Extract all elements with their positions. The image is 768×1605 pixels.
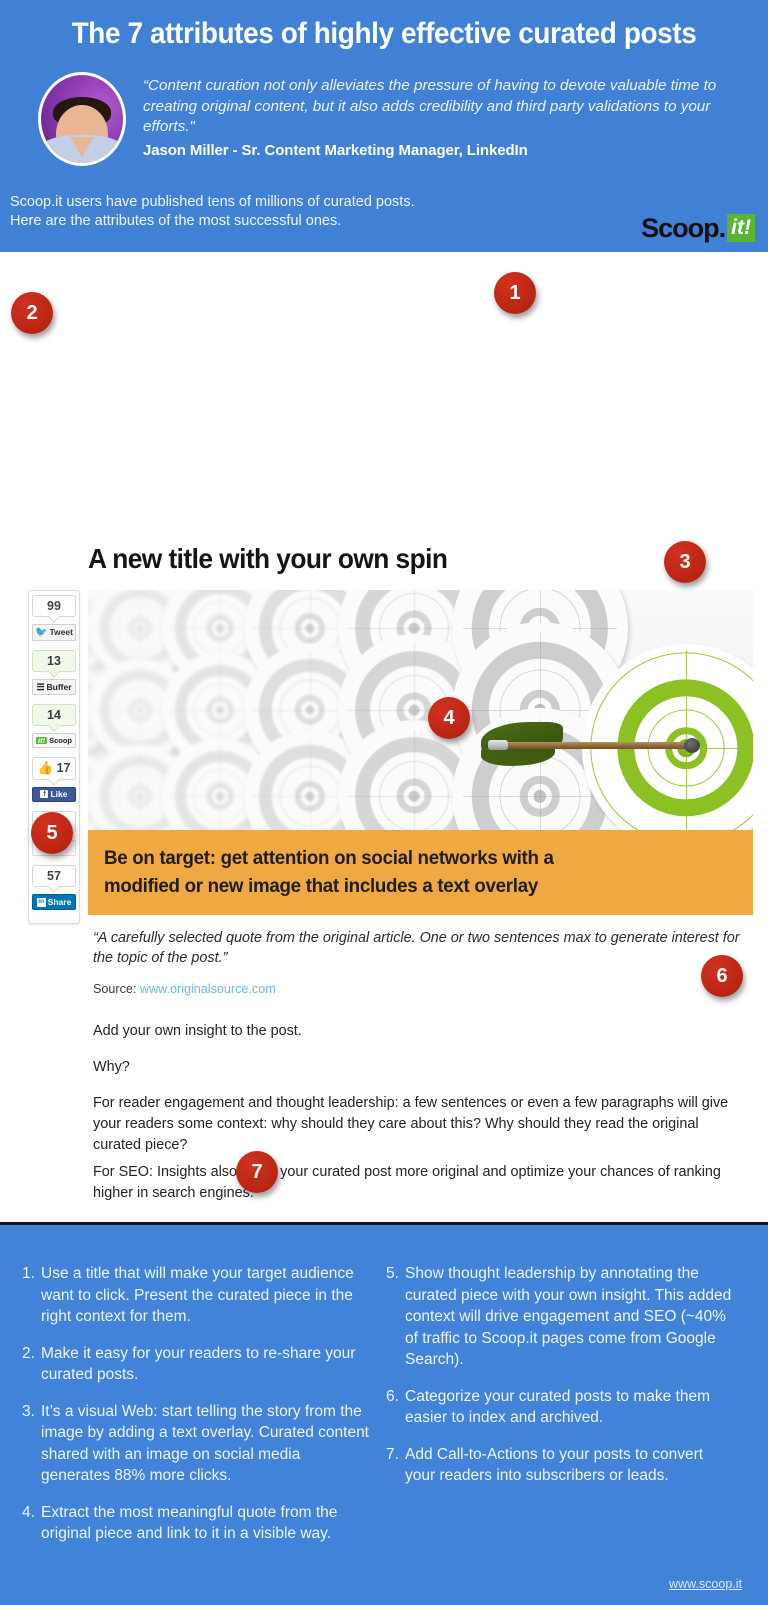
callout-badge-3: 3 bbox=[664, 541, 706, 583]
footer-tips-column-left: 1.Use a title that will make your target… bbox=[22, 1263, 370, 1605]
footer-tip-number: 6. bbox=[386, 1386, 405, 1429]
footer-tip-number: 5. bbox=[386, 1263, 405, 1371]
footer-site-link[interactable]: www.scoop.it bbox=[669, 1577, 742, 1591]
paragraph-engagement: For reader engagement and thought leader… bbox=[93, 1093, 741, 1156]
source-line: Source: www.originalsource.com bbox=[93, 982, 741, 996]
share-button-scoopit[interactable]: it!Scoop bbox=[32, 733, 76, 748]
linkedin-icon: in bbox=[37, 898, 46, 907]
header-quote-author: Jason Miller - Sr. Content Marketing Man… bbox=[143, 142, 743, 159]
share-count-twitter: 99 bbox=[32, 595, 76, 617]
share-count-facebook: 👍 17 bbox=[32, 757, 76, 780]
source-link[interactable]: www.originalsource.com bbox=[140, 982, 276, 996]
share-count-buffer: 13 bbox=[32, 650, 76, 672]
footer-tip-text: Make it easy for your readers to re-shar… bbox=[41, 1343, 370, 1386]
arrow-tip-icon bbox=[684, 738, 700, 753]
footer-tip-text: Show thought leadership by annotating th… bbox=[405, 1263, 734, 1371]
header-quote: “Content curation not only alleviates th… bbox=[143, 76, 743, 138]
footer-tip-text: Use a title that will make your target a… bbox=[41, 1263, 370, 1328]
callout-badge-2: 2 bbox=[11, 292, 53, 334]
social-share-rail[interactable]: 99🐦Tweet13☰Buffer14it!Scoop👍 17fLike23g+… bbox=[28, 590, 80, 924]
footer-tip-item: 6.Categorize your curated posts to make … bbox=[386, 1386, 734, 1429]
footer-tip-number: 4. bbox=[22, 1502, 41, 1545]
share-count-scoopit: 14 bbox=[32, 704, 76, 726]
footer-tip-item: 3.It’s a visual Web: start telling the s… bbox=[22, 1401, 370, 1487]
footer-tip-text: Extract the most meaningful quote from t… bbox=[41, 1502, 370, 1545]
footer-tip-number: 7. bbox=[386, 1444, 405, 1487]
arrow-nock-icon bbox=[488, 740, 508, 750]
header-subtitle: Scoop.it users have published tens of mi… bbox=[10, 193, 415, 231]
share-button-twitter[interactable]: 🐦Tweet bbox=[32, 624, 76, 641]
caption-line-1: Be on target: get attention on social ne… bbox=[104, 844, 712, 872]
share-count-linkedin: 57 bbox=[32, 865, 76, 887]
share-button-linkedin[interactable]: inShare bbox=[32, 894, 76, 910]
arrow-shaft-icon bbox=[500, 742, 692, 749]
twitter-icon: 🐦 bbox=[35, 628, 47, 638]
header-subtitle-line2: Here are the attributes of the most succ… bbox=[10, 212, 415, 231]
source-label: Source: bbox=[93, 982, 136, 996]
scoopit-icon: it! bbox=[36, 737, 47, 745]
share-button-label: Share bbox=[48, 898, 72, 907]
pull-quote: “A carefully selected quote from the ori… bbox=[93, 928, 741, 968]
article-body: A new title with your own spin 99🐦Tweet1… bbox=[0, 252, 768, 1222]
scoopit-logo-word: Scoop. bbox=[641, 215, 725, 242]
share-button-label: Tweet bbox=[49, 628, 72, 637]
footer-tip-text: Categorize your curated posts to make th… bbox=[405, 1386, 734, 1429]
footer-tip-item: 1.Use a title that will make your target… bbox=[22, 1263, 370, 1328]
paragraph-insight: Add your own insight to the post. bbox=[93, 1021, 741, 1042]
buffer-icon: ☰ bbox=[36, 683, 44, 692]
share-button-label: Like bbox=[50, 790, 67, 799]
image-text-overlay: Be on target: get attention on social ne… bbox=[88, 830, 753, 915]
thumbs-up-icon: 👍 bbox=[38, 761, 54, 775]
facebook-icon: f bbox=[40, 790, 48, 798]
header-quote-block: “Content curation not only alleviates th… bbox=[143, 76, 743, 159]
share-button-buffer[interactable]: ☰Buffer bbox=[32, 679, 76, 695]
footer-tips-column-right: 5.Show thought leadership by annotating … bbox=[386, 1263, 734, 1605]
footer-tip-number: 1. bbox=[22, 1263, 41, 1328]
callout-badge-5: 5 bbox=[31, 812, 73, 854]
share-button-label: Buffer bbox=[47, 683, 72, 692]
page-title: The 7 attributes of highly effective cur… bbox=[27, 17, 741, 51]
paragraph-why: Why? bbox=[93, 1057, 741, 1078]
header-banner: The 7 attributes of highly effective cur… bbox=[0, 0, 768, 252]
hero-target-image bbox=[88, 590, 753, 830]
callout-badge-1: 1 bbox=[494, 272, 536, 314]
paragraph-seo: For SEO: Insights also make your curated… bbox=[93, 1162, 741, 1204]
caption-line-2: modified or new image that includes a te… bbox=[104, 872, 712, 900]
footer-tip-item: 4.Extract the most meaningful quote from… bbox=[22, 1502, 370, 1545]
callout-badge-6: 6 bbox=[701, 955, 743, 997]
callout-badge-7: 7 bbox=[236, 1151, 278, 1193]
scoopit-logo-badge: it! bbox=[727, 214, 755, 242]
header-subtitle-line1: Scoop.it users have published tens of mi… bbox=[10, 193, 415, 212]
share-button-label: Scoop bbox=[49, 737, 72, 745]
infographic-page: The 7 attributes of highly effective cur… bbox=[0, 0, 768, 1605]
footer-tip-item: 5.Show thought leadership by annotating … bbox=[386, 1263, 734, 1371]
post-title: A new title with your own spin bbox=[88, 543, 447, 575]
share-button-facebook[interactable]: fLike bbox=[32, 787, 76, 803]
footer-tip-number: 2. bbox=[22, 1343, 41, 1386]
footer-tip-item: 7.Add Call-to-Actions to your posts to c… bbox=[386, 1444, 734, 1487]
footer-tip-number: 3. bbox=[22, 1401, 41, 1487]
footer-tip-text: Add Call-to-Actions to your posts to con… bbox=[405, 1444, 734, 1487]
footer-tip-text: It’s a visual Web: start telling the sto… bbox=[41, 1401, 370, 1487]
avatar bbox=[38, 72, 126, 166]
footer-tip-item: 2.Make it easy for your readers to re-sh… bbox=[22, 1343, 370, 1386]
footer-tips-panel: 1.Use a title that will make your target… bbox=[0, 1222, 768, 1605]
scoopit-logo: Scoop. it! bbox=[641, 214, 755, 242]
callout-badge-4: 4 bbox=[428, 697, 470, 739]
